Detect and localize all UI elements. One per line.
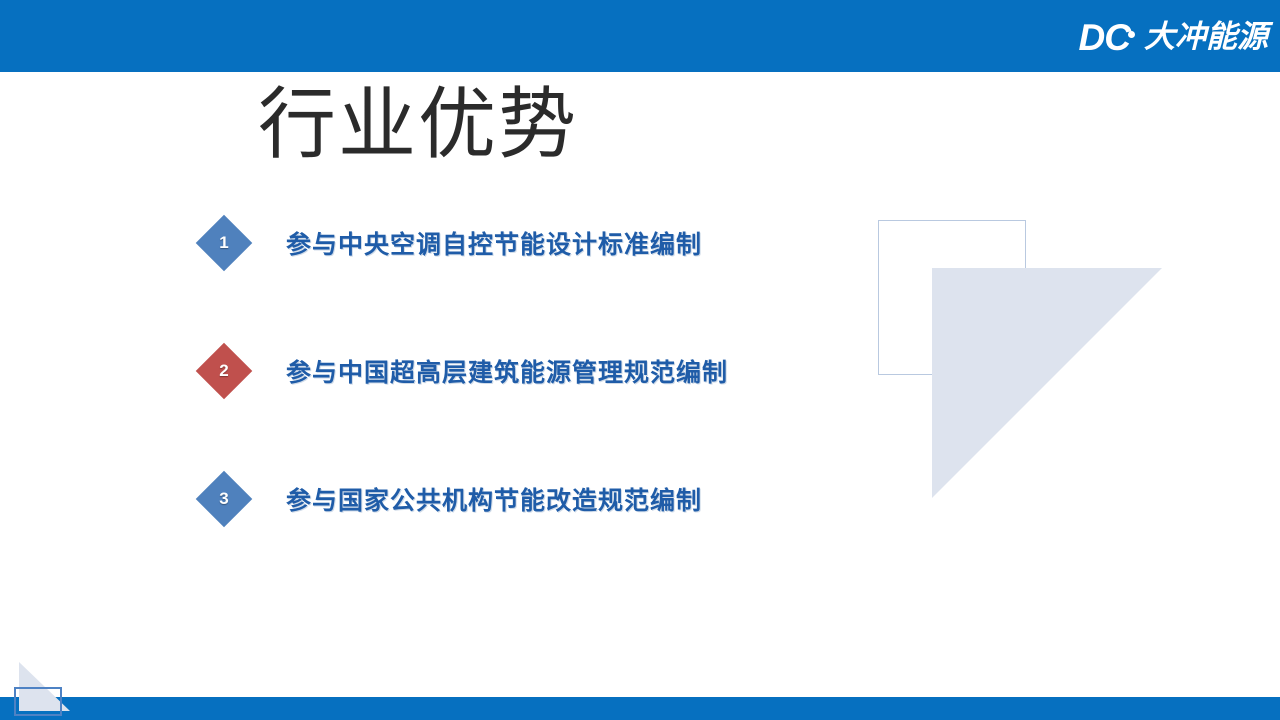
list-item: 3 参与国家公共机构节能改造规范编制 [196, 468, 816, 530]
logo-dot-icon [1128, 31, 1135, 38]
dc-logo-icon: DC [1079, 19, 1136, 56]
decorative-square-small-outline [14, 687, 62, 716]
diamond-marker-icon: 1 [196, 215, 252, 271]
list-item: 1 参与中央空调自控节能设计标准编制 [196, 212, 816, 274]
slide-canvas: DC 大冲能源 行业优势 1 参与中央空调自控节能设计标准编制 2 参与中国超高… [0, 0, 1280, 720]
page-title: 行业优势 [258, 82, 578, 169]
list-item-label: 参与中央空调自控节能设计标准编制 [286, 225, 702, 261]
list-item: 2 参与中国超高层建筑能源管理规范编制 [196, 340, 816, 402]
diamond-marker-icon: 2 [196, 343, 252, 399]
logo-company-name: 大冲能源 [1144, 22, 1268, 53]
diamond-marker-icon: 3 [196, 471, 252, 527]
list-item-label: 参与中国超高层建筑能源管理规范编制 [286, 353, 728, 389]
bottom-banner [0, 697, 1280, 720]
list-item-number: 3 [196, 471, 252, 527]
list-item-label: 参与国家公共机构节能改造规范编制 [286, 481, 702, 517]
company-logo: DC 大冲能源 [1079, 14, 1268, 60]
advantages-list: 1 参与中央空调自控节能设计标准编制 2 参与中国超高层建筑能源管理规范编制 3… [196, 212, 816, 596]
decorative-triangle-icon [930, 264, 1164, 502]
logo-mark-text: DC [1079, 17, 1130, 58]
top-banner: DC 大冲能源 [0, 0, 1280, 72]
list-item-number: 2 [196, 343, 252, 399]
list-item-number: 1 [196, 215, 252, 271]
